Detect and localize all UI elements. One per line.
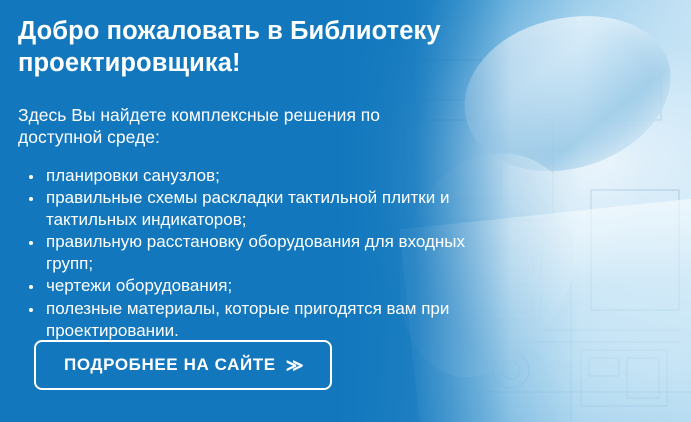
- list-item: чертежи оборудования;: [44, 275, 499, 297]
- list-item: планировки санузлов;: [44, 165, 499, 187]
- banner-headline: Добро пожаловать в Библиотеку проектиров…: [18, 16, 458, 80]
- double-chevron-right-icon: ≫: [286, 357, 304, 374]
- list-item: полезные материалы, которые пригодятся в…: [44, 298, 499, 341]
- benefits-list: планировки санузлов; правильные схемы ра…: [18, 165, 499, 342]
- learn-more-label: ПОДРОБНЕЕ НА САЙТЕ: [64, 355, 276, 375]
- learn-more-button[interactable]: ПОДРОБНЕЕ НА САЙТЕ ≫: [34, 340, 332, 390]
- promo-banner: Добро пожаловать в Библиотеку проектиров…: [0, 0, 691, 422]
- list-item: правильные схемы раскладки тактильной пл…: [44, 187, 499, 230]
- list-item: правильную расстановку оборудования для …: [44, 231, 499, 274]
- banner-subheadline: Здесь Вы найдете комплексные решения по …: [18, 104, 448, 149]
